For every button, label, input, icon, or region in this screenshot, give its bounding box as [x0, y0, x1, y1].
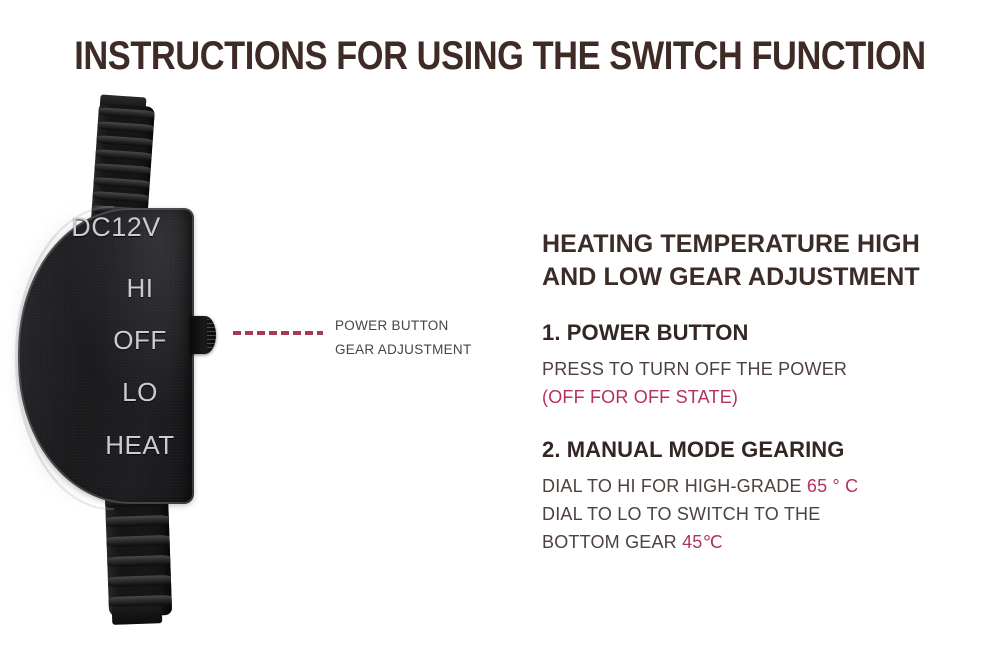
bottom-cable-tip: [112, 605, 163, 625]
section-2-line-1: DIAL TO HI FOR HIGH-GRADE 65 ° C: [542, 472, 972, 500]
section-1-line-1: PRESS TO TURN OFF THE POWER: [542, 355, 972, 383]
section-2-line-3-text: BOTTOM GEAR: [542, 532, 682, 552]
callout-label: POWER BUTTON GEAR ADJUSTMENT: [335, 314, 472, 362]
label-heat: HEAT: [76, 430, 204, 461]
label-hi: HI: [76, 273, 204, 304]
gear-adjustment-knob[interactable]: [190, 316, 216, 354]
section-2-line-3: BOTTOM GEAR 45℃: [542, 528, 972, 556]
section-2-temp-low: 45℃: [682, 532, 723, 552]
section-2-line-2-text: DIAL TO LO TO SWITCH TO THE: [542, 504, 820, 524]
instructions-heading: HEATING TEMPERATURE HIGH AND LOW GEAR AD…: [542, 228, 972, 294]
instructions-panel: HEATING TEMPERATURE HIGH AND LOW GEAR AD…: [542, 228, 972, 556]
callout-line-1: POWER BUTTON: [335, 314, 472, 338]
section-2-line-1-text: DIAL TO HI FOR HIGH-GRADE: [542, 476, 807, 496]
section-1-title: 1. POWER BUTTON: [542, 320, 972, 346]
label-off: OFF: [76, 325, 204, 356]
heading-line-2: AND LOW GEAR ADJUSTMENT: [542, 261, 972, 294]
callout-leader-line: [233, 331, 323, 335]
switch-illustration: DC12V HI OFF LO HEAT: [0, 88, 300, 633]
section-1-line-2: (OFF FOR OFF STATE): [542, 383, 972, 411]
label-lo: LO: [76, 377, 204, 408]
page-title: INSTRUCTIONS FOR USING THE SWITCH FUNCTI…: [70, 34, 930, 79]
instruction-section-2: 2. MANUAL MODE GEARING DIAL TO HI FOR HI…: [542, 437, 972, 556]
section-2-line-2: DIAL TO LO TO SWITCH TO THE: [542, 500, 972, 528]
callout-line-2: GEAR ADJUSTMENT: [335, 338, 472, 362]
label-voltage: DC12V: [52, 212, 180, 243]
top-cable-boot: [91, 103, 155, 225]
instruction-section-1: 1. POWER BUTTON PRESS TO TURN OFF THE PO…: [542, 320, 972, 411]
bottom-cable-boot: [105, 489, 172, 617]
section-2-temp-high: 65 ° C: [807, 476, 858, 496]
section-2-title: 2. MANUAL MODE GEARING: [542, 437, 972, 463]
heading-line-1: HEATING TEMPERATURE HIGH: [542, 228, 972, 261]
